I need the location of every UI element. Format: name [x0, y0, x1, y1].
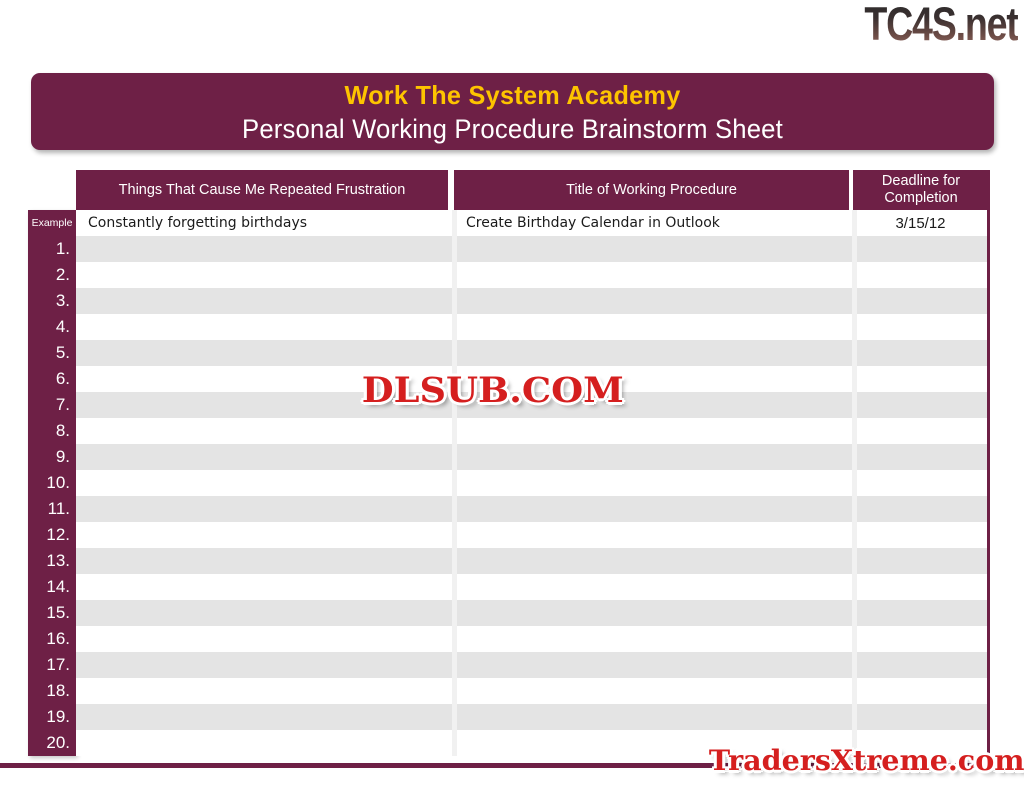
table-body: Constantly forgetting birthdaysCreate Bi…: [76, 210, 989, 756]
cell-deadline[interactable]: [852, 600, 989, 626]
cell-procedure[interactable]: Create Birthday Calendar in Outlook: [452, 210, 852, 236]
cell-deadline[interactable]: [852, 262, 989, 288]
cell-deadline[interactable]: 3/15/12: [852, 210, 989, 236]
column-separator: [852, 496, 857, 522]
column-separator: [852, 210, 857, 236]
row-number-10: 10.: [28, 470, 76, 496]
cell-frustration[interactable]: [76, 548, 452, 574]
cell-procedure[interactable]: [452, 470, 852, 496]
table-row[interactable]: [76, 236, 989, 262]
column-separator: [452, 652, 457, 678]
table-row[interactable]: [76, 626, 989, 652]
cell-deadline[interactable]: [852, 418, 989, 444]
title-banner: Work The System Academy Personal Working…: [31, 73, 994, 150]
column-separator: [852, 470, 857, 496]
column-separator: [452, 548, 457, 574]
table-row[interactable]: [76, 444, 989, 470]
column-separator: [852, 236, 857, 262]
row-number-19: 19.: [28, 704, 76, 730]
table-row[interactable]: [76, 522, 989, 548]
cell-frustration[interactable]: [76, 262, 452, 288]
table-row[interactable]: [76, 470, 989, 496]
column-separator: [452, 626, 457, 652]
table-row[interactable]: [76, 704, 989, 730]
column-separator: [852, 314, 857, 340]
cell-procedure[interactable]: [452, 444, 852, 470]
table-row[interactable]: [76, 314, 989, 340]
frame-right-rule: [987, 170, 990, 768]
column-separator: [452, 704, 457, 730]
row-number-2: 2.: [28, 262, 76, 288]
column-separator: [452, 210, 457, 236]
cell-deadline[interactable]: [852, 444, 989, 470]
column-separator: [852, 444, 857, 470]
cell-frustration[interactable]: [76, 522, 452, 548]
row-number-20: 20.: [28, 730, 76, 756]
cell-procedure[interactable]: [452, 262, 852, 288]
cell-procedure[interactable]: [452, 496, 852, 522]
cell-procedure[interactable]: [452, 600, 852, 626]
cell-deadline[interactable]: [852, 652, 989, 678]
cell-deadline[interactable]: [852, 704, 989, 730]
row-number-6: 6.: [28, 366, 76, 392]
cell-frustration[interactable]: [76, 418, 452, 444]
column-header-procedure: Title of Working Procedure: [454, 170, 849, 210]
table-row[interactable]: [76, 678, 989, 704]
cell-frustration[interactable]: [76, 626, 452, 652]
column-separator: [452, 314, 457, 340]
table-row[interactable]: [76, 574, 989, 600]
table-row[interactable]: Constantly forgetting birthdaysCreate Bi…: [76, 210, 989, 236]
row-number-example: Example: [28, 210, 76, 236]
cell-deadline[interactable]: [852, 366, 989, 392]
cell-deadline[interactable]: [852, 392, 989, 418]
column-separator: [852, 366, 857, 392]
column-separator: [452, 678, 457, 704]
column-separator: [852, 678, 857, 704]
column-separator: [852, 600, 857, 626]
column-separator: [452, 730, 457, 756]
watermark-center: DLSUB.COM: [362, 370, 624, 411]
table-row[interactable]: [76, 340, 989, 366]
column-separator: [852, 392, 857, 418]
table-row[interactable]: [76, 600, 989, 626]
column-separator: [852, 262, 857, 288]
table-row[interactable]: [76, 288, 989, 314]
column-separator: [852, 522, 857, 548]
site-logo: TC4S.net: [865, 0, 1018, 50]
cell-procedure[interactable]: [452, 522, 852, 548]
cell-deadline[interactable]: [852, 470, 989, 496]
cell-deadline[interactable]: [852, 678, 989, 704]
table-row[interactable]: [76, 262, 989, 288]
cell-frustration[interactable]: [76, 652, 452, 678]
cell-frustration[interactable]: [76, 470, 452, 496]
column-separator: [452, 444, 457, 470]
cell-frustration[interactable]: [76, 444, 452, 470]
column-header-deadline-line2: Completion: [884, 190, 957, 206]
column-separator: [452, 470, 457, 496]
row-number-16: 16.: [28, 626, 76, 652]
cell-deadline[interactable]: [852, 288, 989, 314]
row-number-15: 15.: [28, 600, 76, 626]
cell-frustration[interactable]: [76, 314, 452, 340]
column-separator: [452, 288, 457, 314]
table-row[interactable]: [76, 652, 989, 678]
column-header-deadline: Deadline for Completion: [853, 170, 989, 210]
row-number-5: 5.: [28, 340, 76, 366]
column-separator: [852, 418, 857, 444]
row-number-7: 7.: [28, 392, 76, 418]
table-row[interactable]: [76, 418, 989, 444]
cell-procedure[interactable]: [452, 574, 852, 600]
row-number-1: 1.: [28, 236, 76, 262]
row-number-18: 18.: [28, 678, 76, 704]
column-separator: [852, 288, 857, 314]
cell-deadline[interactable]: [852, 314, 989, 340]
cell-procedure[interactable]: [452, 340, 852, 366]
cell-deadline[interactable]: [852, 496, 989, 522]
banner-title-primary: Work The System Academy: [45, 78, 979, 112]
cell-frustration[interactable]: [76, 704, 452, 730]
cell-procedure[interactable]: [452, 652, 852, 678]
cell-procedure[interactable]: [452, 418, 852, 444]
row-number-17: 17.: [28, 652, 76, 678]
cell-frustration[interactable]: [76, 340, 452, 366]
column-separator: [852, 704, 857, 730]
row-number-8: 8.: [28, 418, 76, 444]
cell-frustration[interactable]: [76, 600, 452, 626]
column-header-deadline-line1: Deadline for: [882, 173, 960, 189]
column-separator: [452, 262, 457, 288]
row-number-4: 4.: [28, 314, 76, 340]
row-number-9: 9.: [28, 444, 76, 470]
cell-frustration[interactable]: [76, 236, 452, 262]
column-separator: [852, 340, 857, 366]
row-number-11: 11.: [28, 496, 76, 522]
column-header-frustration: Things That Cause Me Repeated Frustratio…: [76, 170, 448, 210]
cell-procedure[interactable]: [452, 288, 852, 314]
cell-deadline[interactable]: [852, 626, 989, 652]
cell-frustration[interactable]: [76, 288, 452, 314]
column-separator: [452, 574, 457, 600]
cell-frustration[interactable]: [76, 730, 452, 756]
cell-procedure[interactable]: [452, 626, 852, 652]
watermark-footer: TradersXtreme.com: [709, 744, 1024, 777]
cell-frustration[interactable]: [76, 574, 452, 600]
column-separator: [452, 522, 457, 548]
row-number-14: 14.: [28, 574, 76, 600]
cell-deadline[interactable]: [852, 236, 989, 262]
table-row[interactable]: [76, 496, 989, 522]
cell-procedure[interactable]: [452, 548, 852, 574]
table-row[interactable]: [76, 548, 989, 574]
column-separator: [852, 652, 857, 678]
column-separator: [452, 496, 457, 522]
row-number-12: 12.: [28, 522, 76, 548]
column-separator: [452, 236, 457, 262]
column-separator: [852, 626, 857, 652]
column-separator: [852, 548, 857, 574]
cell-procedure[interactable]: [452, 678, 852, 704]
column-separator: [452, 340, 457, 366]
cell-deadline[interactable]: [852, 574, 989, 600]
column-separator: [452, 418, 457, 444]
cell-procedure[interactable]: [452, 704, 852, 730]
row-number-13: 13.: [28, 548, 76, 574]
cell-frustration[interactable]: [76, 496, 452, 522]
cell-procedure[interactable]: [452, 236, 852, 262]
column-separator: [452, 600, 457, 626]
column-separator: [852, 574, 857, 600]
cell-deadline[interactable]: [852, 522, 989, 548]
cell-procedure[interactable]: [452, 314, 852, 340]
banner-title-secondary: Personal Working Procedure Brainstorm Sh…: [55, 112, 970, 146]
cell-deadline[interactable]: [852, 340, 989, 366]
cell-deadline[interactable]: [852, 548, 989, 574]
cell-frustration[interactable]: [76, 678, 452, 704]
row-number-3: 3.: [28, 288, 76, 314]
cell-frustration[interactable]: Constantly forgetting birthdays: [76, 210, 452, 236]
row-number-strip: Example1.2.3.4.5.6.7.8.9.10.11.12.13.14.…: [28, 210, 76, 756]
table-header-row: Things That Cause Me Repeated Frustratio…: [76, 170, 989, 210]
